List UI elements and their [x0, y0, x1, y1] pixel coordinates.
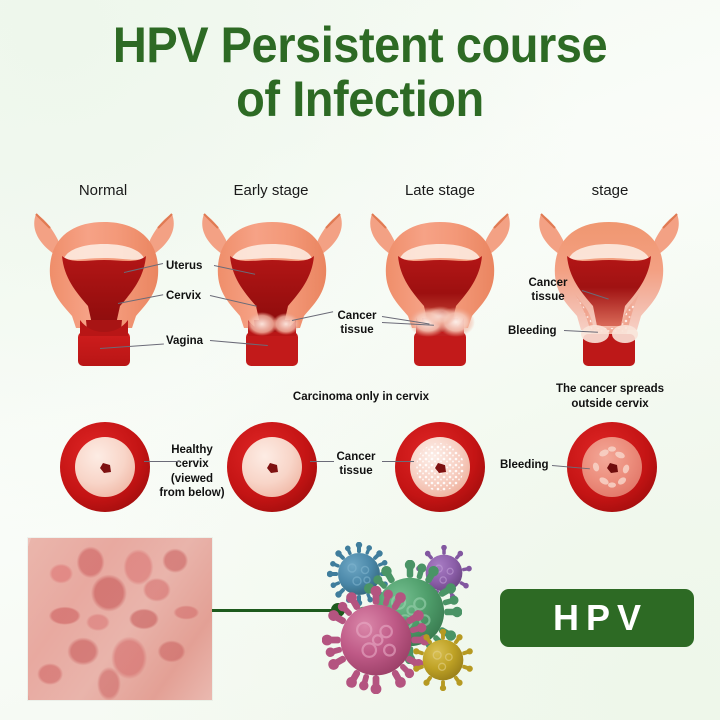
label-cervix-cancer-line1: Cancer [337, 450, 376, 464]
uterus-diagram-early-stage [196, 200, 348, 368]
label-uterus: Uterus [166, 259, 202, 273]
label-cervix-bleeding: Bleeding [500, 458, 549, 472]
hpv-badge: HPV [500, 589, 694, 647]
stage-header-early: Early stage [233, 182, 308, 199]
label-cervix-cancer-tissue: Cancer tissue [337, 450, 376, 479]
leader-line-cervix-cancer-left [310, 461, 334, 462]
page-title: HPV Persistent course of Infection [22, 18, 699, 126]
caption-cancer-spreads-line1: The cancer spreads [556, 382, 664, 397]
hpv-badge-label: HPV [546, 597, 648, 639]
label-healthy-cervix-line4: from below) [159, 486, 224, 500]
caption-carcinoma-only-in-cervix: Carcinoma only in cervix [293, 390, 429, 405]
virus-particle-yellow [412, 629, 474, 691]
infographic-canvas: HPV Persistent course of Infection Norma… [0, 0, 720, 720]
cervix-view-healthy [59, 421, 151, 513]
label-cervix: Cervix [166, 289, 201, 303]
label-vagina: Vagina [166, 334, 203, 348]
label-cancer-tissue-advanced: Cancer tissue [529, 276, 568, 305]
uterus-diagram-normal [28, 200, 180, 368]
label-cervix-cancer-line2: tissue [337, 464, 376, 478]
label-cancer-tissue-early-line2: tissue [338, 323, 377, 337]
label-cancer-tissue-early-line1: Cancer [338, 309, 377, 323]
genital-wart-lesion-photo [28, 538, 212, 700]
stage-header-advanced: stage [592, 182, 629, 199]
label-bleeding-advanced: Bleeding [508, 324, 557, 338]
connector-line [212, 609, 334, 612]
stage-header-normal: Normal [79, 182, 127, 199]
caption-cancer-spreads: The cancer spreads outside cervix [556, 382, 664, 412]
stage-header-late: Late stage [405, 182, 475, 199]
label-cancer-tissue-advanced-line1: Cancer [529, 276, 568, 290]
leader-line-healthy-cervix [144, 461, 180, 462]
page-title-line-2: of Infection [22, 72, 699, 126]
label-healthy-cervix-line3: (viewed [159, 472, 224, 486]
leader-line-cervix-cancer-right [382, 461, 414, 462]
cervix-view-early [226, 421, 318, 513]
caption-cancer-spreads-line2: outside cervix [556, 397, 664, 412]
cervix-view-cancer [394, 421, 486, 513]
page-title-line-1: HPV Persistent course [113, 17, 607, 73]
label-healthy-cervix-line1: Healthy [159, 443, 224, 457]
uterus-diagram-late-stage [364, 200, 516, 368]
label-cancer-tissue-advanced-line2: tissue [529, 290, 568, 304]
label-cancer-tissue-early: Cancer tissue [338, 309, 377, 338]
label-healthy-cervix: Healthy cervix (viewed from below) [159, 443, 224, 501]
label-healthy-cervix-line2: cervix [159, 457, 224, 471]
